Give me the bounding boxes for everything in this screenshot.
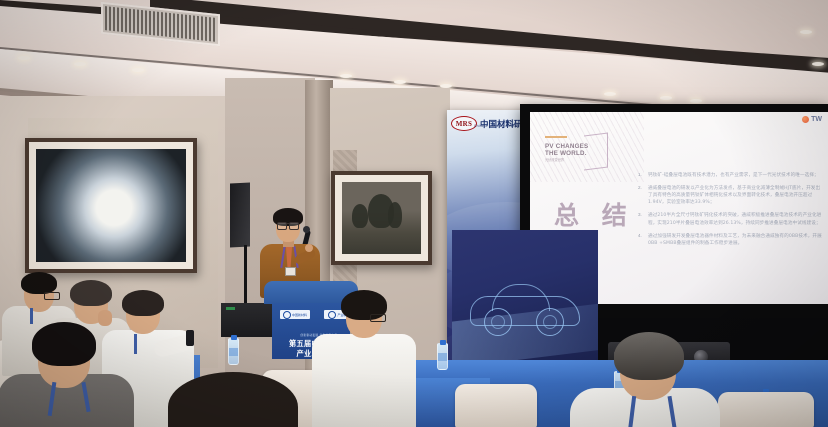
attendee-hair bbox=[21, 272, 57, 294]
attendee-hair bbox=[614, 332, 684, 380]
downlight-icon bbox=[394, 80, 406, 84]
downlight-icon bbox=[604, 92, 616, 96]
partner-logo-a-text: 中国新材料 bbox=[292, 313, 307, 317]
framed-painting-landscape-trees bbox=[331, 171, 432, 265]
equipment-led-indicator bbox=[226, 307, 235, 310]
pv-logo-line2: THE WORLD. bbox=[545, 150, 587, 157]
pv-logo-line1: PV CHANGES bbox=[545, 143, 588, 150]
downlight-icon bbox=[74, 62, 86, 66]
attendee-hand bbox=[98, 310, 112, 326]
bullet-number: 3. bbox=[638, 212, 645, 226]
attendee-body bbox=[312, 334, 416, 427]
car-outline-icon bbox=[470, 282, 580, 338]
bullet-text: 通过210半片全尺寸钙钛矿钝化技术的突破，通威积极推进叠层电池技术的产业化进程，… bbox=[648, 212, 822, 226]
bullet-number: 4. bbox=[638, 233, 645, 247]
water-bottle bbox=[228, 338, 239, 365]
lanyard-strap bbox=[30, 308, 33, 324]
glasses-icon bbox=[370, 314, 386, 322]
bullet-text: 通过加强研发开发叠层电池器件材料及工艺，为未来融合通威独有的0BB技术，开展0B… bbox=[648, 233, 822, 247]
chair bbox=[455, 384, 537, 427]
attendee-hair bbox=[122, 290, 164, 316]
bullet-text: 通威叠层电池的研发以产业化为方法发点，基于商业化减薄全制绒HJT底片，开发出了具… bbox=[648, 185, 822, 206]
bullet-text: 钙钛矿-硅叠层电池既有技术潜力，也有产业需求，是下一代光伏技术的唯一选择； bbox=[648, 172, 819, 179]
downlight-icon bbox=[340, 74, 352, 78]
list-item: 4. 通过加强研发开发叠层电池器件材料及工艺，为未来融合通威独有的0BB技术，开… bbox=[638, 233, 822, 247]
downlight-icon bbox=[800, 30, 812, 34]
pv-changes-the-world-logo: PV CHANGES THE WORLD. 光伏改变世界 bbox=[544, 134, 608, 168]
door-outline-icon bbox=[584, 133, 608, 171]
pa-speaker bbox=[230, 182, 250, 247]
slide-bullet-list: 1. 钙钛矿-硅叠层电池既有技术潜力，也有产业需求，是下一代光伏技术的唯一选择；… bbox=[638, 172, 822, 253]
downlight-icon bbox=[18, 56, 30, 60]
downlight-icon bbox=[660, 96, 672, 100]
presenter-hand bbox=[305, 244, 313, 252]
list-item: 2. 通威叠层电池的研发以产业化为方法发点，基于商业化减薄全制绒HJT底片，开发… bbox=[638, 185, 822, 206]
tw-corner-logo: TW bbox=[802, 116, 822, 123]
attendee-hair bbox=[32, 322, 96, 366]
logo-accent-bar bbox=[545, 136, 567, 138]
tw-logo-text: TW bbox=[811, 116, 822, 123]
water-bottle bbox=[437, 343, 448, 370]
chair bbox=[718, 392, 814, 427]
list-item: 1. 钙钛矿-硅叠层电池既有技术潜力，也有产业需求，是下一代光伏技术的唯一选择； bbox=[638, 172, 822, 179]
speaker-stand-pole bbox=[244, 245, 247, 305]
mrs-logo-letters: MRS bbox=[456, 120, 472, 128]
tw-circle-icon bbox=[802, 116, 809, 123]
slide-title: 总 结 bbox=[554, 196, 634, 232]
partner-logo-a-icon: 中国新材料 bbox=[280, 310, 310, 319]
glasses-icon bbox=[44, 292, 60, 300]
stage-backdrop-car-graphic bbox=[452, 230, 598, 378]
downlight-icon bbox=[812, 62, 824, 66]
downlight-icon bbox=[690, 99, 702, 103]
lanyard-strap bbox=[134, 334, 137, 354]
glasses-icon bbox=[277, 223, 299, 229]
attendee-hair bbox=[70, 280, 112, 306]
bullet-number: 2. bbox=[638, 185, 645, 206]
framed-photo-ice-sculpture bbox=[25, 138, 197, 273]
bullet-number: 1. bbox=[638, 172, 645, 179]
badge bbox=[285, 267, 296, 276]
microphone-head-icon bbox=[303, 226, 310, 233]
downlight-icon bbox=[132, 68, 144, 72]
pv-logo-sub: 光伏改变世界 bbox=[545, 157, 564, 162]
list-item: 3. 通过210半片全尺寸钙钛矿钝化技术的突破，通威积极推进叠层电池技术的产业化… bbox=[638, 212, 822, 226]
smartphone-icon bbox=[186, 330, 194, 346]
conference-room-photo: MRS 中国材料研究学会 Chinese Materials Research … bbox=[0, 0, 828, 427]
